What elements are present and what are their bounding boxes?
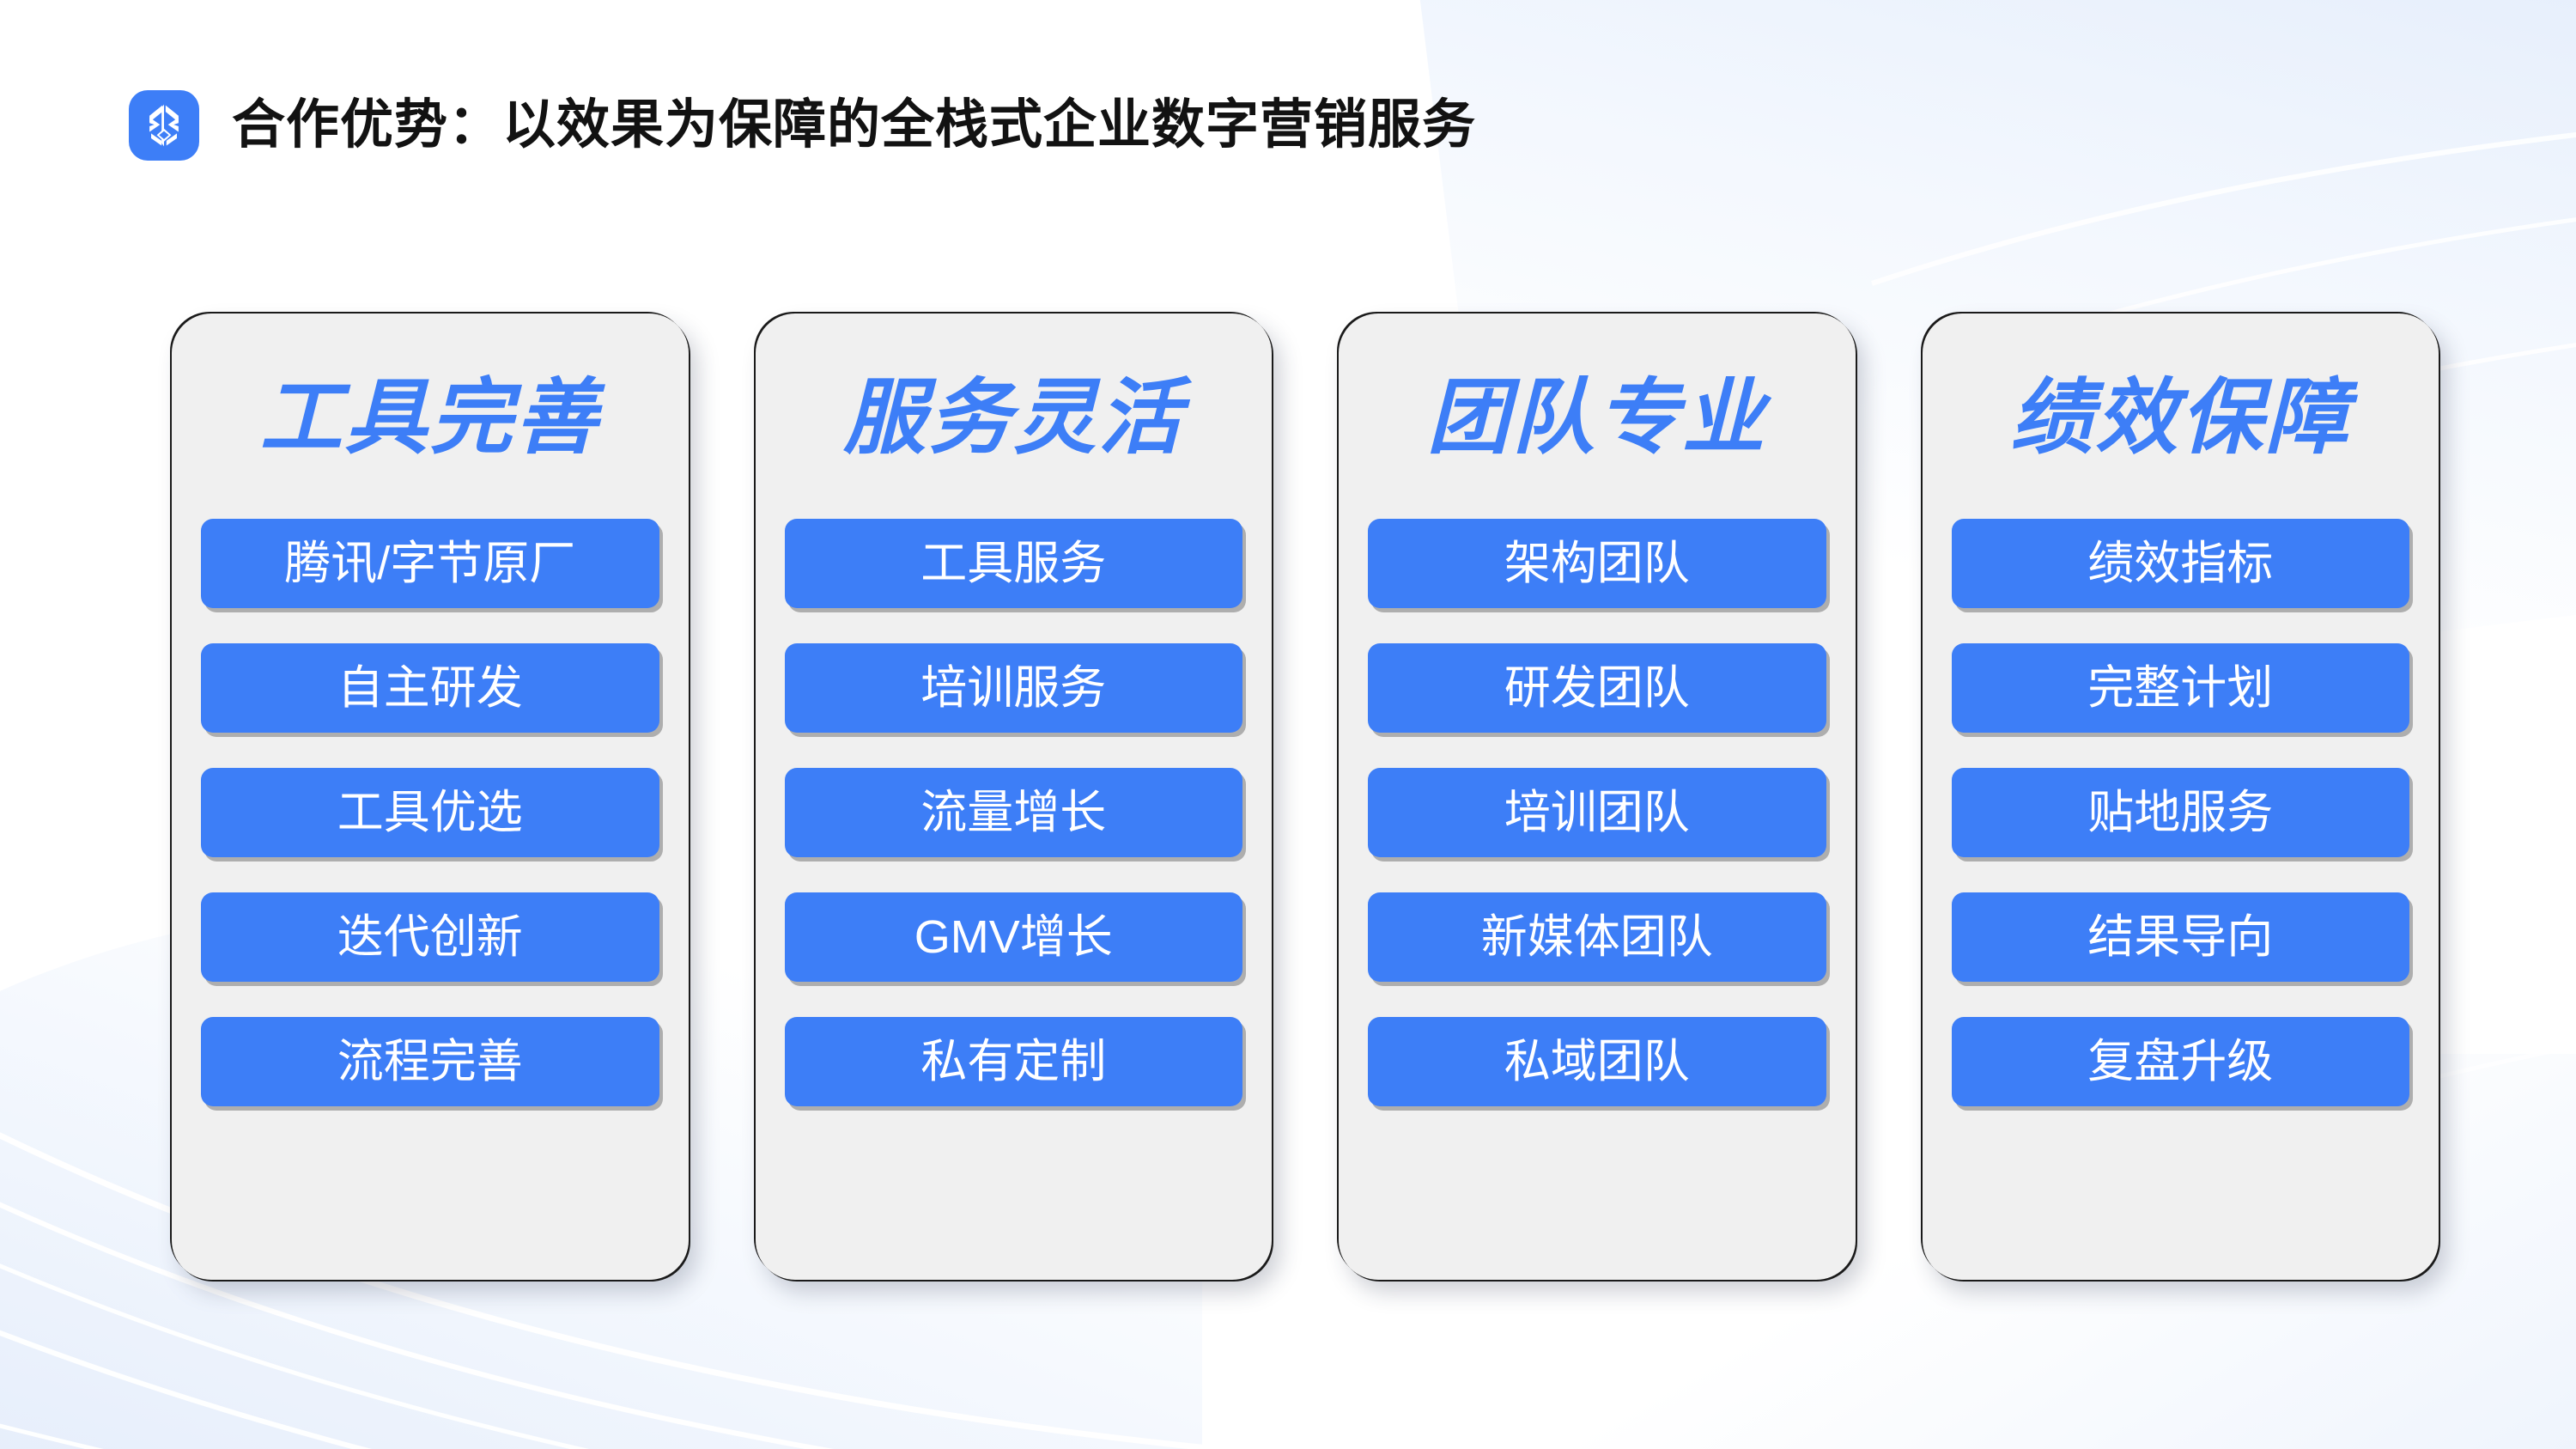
zs-cube-logo-icon bbox=[129, 90, 199, 161]
slide-canvas: 合作优势：以效果为保障的全栈式企业数字营销服务 工具完善 腾讯/字节原厂 自主研… bbox=[0, 0, 2576, 1449]
pill-item[interactable]: 贴地服务 bbox=[1952, 768, 2410, 857]
pill-item[interactable]: 工具服务 bbox=[785, 519, 1243, 608]
card-pill-list: 工具服务 培训服务 流量增长 GMV增长 私有定制 bbox=[785, 519, 1243, 1106]
pill-item[interactable]: 复盘升级 bbox=[1952, 1017, 2410, 1106]
pill-item[interactable]: 腾讯/字节原厂 bbox=[201, 519, 659, 608]
card-title: 绩效保障 bbox=[2010, 375, 2350, 462]
pill-item[interactable]: 结果导向 bbox=[1952, 892, 2410, 982]
pill-item[interactable]: 迭代创新 bbox=[201, 892, 659, 982]
pill-item[interactable]: 绩效指标 bbox=[1952, 519, 2410, 608]
advantage-card-2: 服务灵活 工具服务 培训服务 流量增长 GMV增长 私有定制 bbox=[756, 314, 1273, 1280]
pill-item[interactable]: 完整计划 bbox=[1952, 643, 2410, 733]
pill-item[interactable]: GMV增长 bbox=[785, 892, 1243, 982]
pill-item[interactable]: 私有定制 bbox=[785, 1017, 1243, 1106]
advantage-card-3: 团队专业 架构团队 研发团队 培训团队 新媒体团队 私域团队 bbox=[1339, 314, 1856, 1280]
card-pill-list: 架构团队 研发团队 培训团队 新媒体团队 私域团队 bbox=[1368, 519, 1826, 1106]
pill-item[interactable]: 私域团队 bbox=[1368, 1017, 1826, 1106]
pill-item[interactable]: 培训团队 bbox=[1368, 768, 1826, 857]
advantage-card-4: 绩效保障 绩效指标 完整计划 贴地服务 结果导向 复盘升级 bbox=[1923, 314, 2439, 1280]
card-pill-list: 腾讯/字节原厂 自主研发 工具优选 迭代创新 流程完善 bbox=[201, 519, 659, 1106]
advantage-cards-row: 工具完善 腾讯/字节原厂 自主研发 工具优选 迭代创新 流程完善 服务灵活 工具… bbox=[172, 314, 2439, 1280]
card-title: 工具完善 bbox=[260, 375, 600, 462]
pill-item[interactable]: 研发团队 bbox=[1368, 643, 1826, 733]
pill-item[interactable]: 工具优选 bbox=[201, 768, 659, 857]
pill-item[interactable]: 新媒体团队 bbox=[1368, 892, 1826, 982]
pill-item[interactable]: 流量增长 bbox=[785, 768, 1243, 857]
page-title: 合作优势：以效果为保障的全栈式企业数字营销服务 bbox=[232, 99, 1476, 152]
card-title: 服务灵活 bbox=[843, 375, 1183, 462]
card-pill-list: 绩效指标 完整计划 贴地服务 结果导向 复盘升级 bbox=[1952, 519, 2410, 1106]
card-title: 团队专业 bbox=[1427, 375, 1767, 462]
slide-header: 合作优势：以效果为保障的全栈式企业数字营销服务 bbox=[129, 90, 1476, 161]
pill-item[interactable]: 流程完善 bbox=[201, 1017, 659, 1106]
advantage-card-1: 工具完善 腾讯/字节原厂 自主研发 工具优选 迭代创新 流程完善 bbox=[172, 314, 689, 1280]
pill-item[interactable]: 自主研发 bbox=[201, 643, 659, 733]
pill-item[interactable]: 培训服务 bbox=[785, 643, 1243, 733]
pill-item[interactable]: 架构团队 bbox=[1368, 519, 1826, 608]
